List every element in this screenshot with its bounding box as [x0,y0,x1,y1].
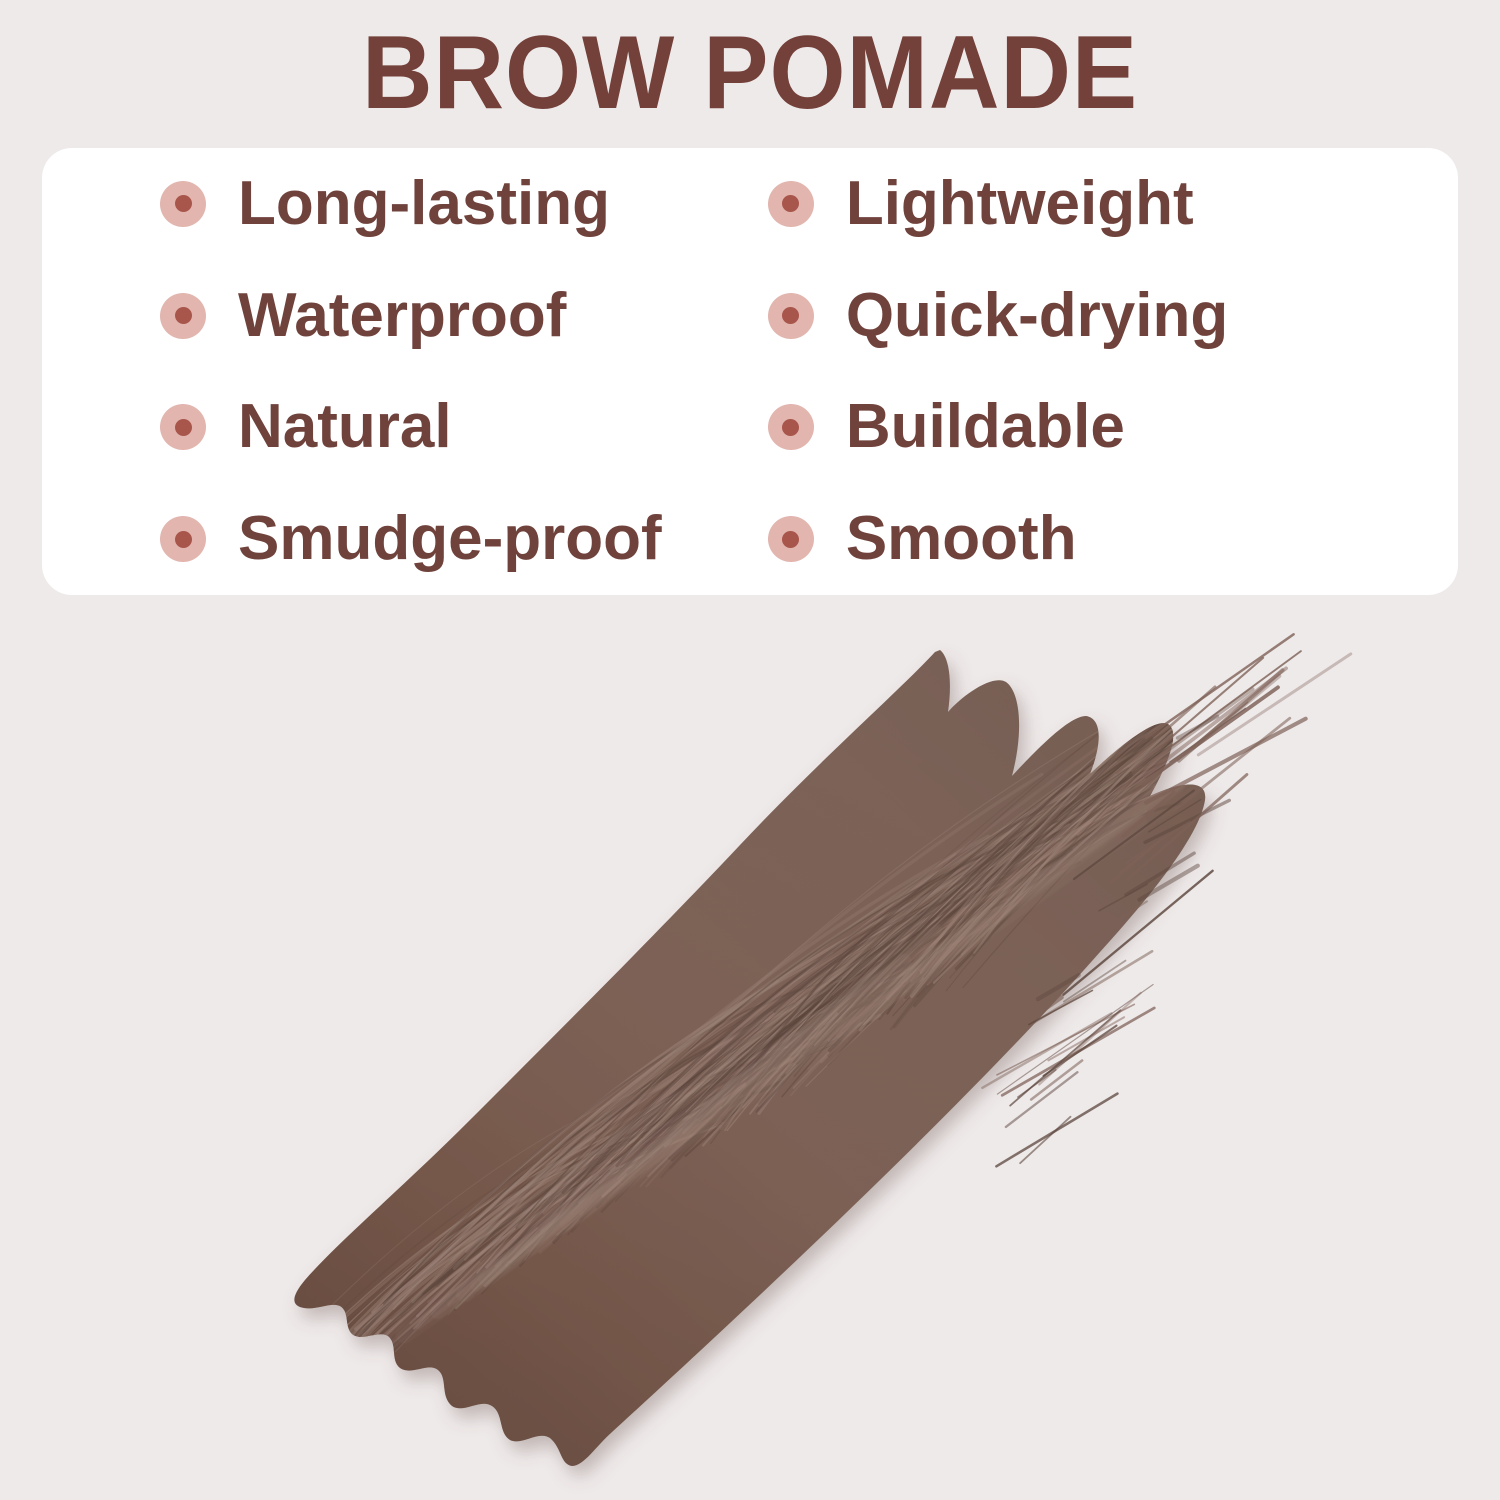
features-card: Long-lasting Lightweight Waterproof Quic… [42,148,1458,595]
brow-pomade-swatch [0,600,1500,1500]
bullet-dot-icon [768,516,814,562]
feature-label: Long-lasting [238,169,610,239]
feature-label: Waterproof [238,281,566,351]
bullet-dot-icon [768,404,814,450]
bullet-dot-icon [768,181,814,227]
features-grid: Long-lasting Lightweight Waterproof Quic… [42,148,1458,595]
feature-label: Natural [238,392,452,462]
page-title: BROW POMADE [45,18,1455,128]
feature-item-lightweight: Lightweight [736,169,1458,239]
feature-item-smooth: Smooth [736,504,1458,574]
bullet-dot-icon [160,516,206,562]
feature-label: Buildable [846,392,1125,462]
feature-item-long-lasting: Long-lasting [42,169,736,239]
feature-item-buildable: Buildable [736,392,1458,462]
feature-label: Smudge-proof [238,504,662,574]
feature-label: Quick-drying [846,281,1228,351]
feature-label: Lightweight [846,169,1194,239]
feature-item-natural: Natural [42,392,736,462]
bullet-dot-icon [160,404,206,450]
bullet-dot-icon [160,181,206,227]
feature-item-quick-drying: Quick-drying [736,281,1458,351]
bullet-dot-icon [768,293,814,339]
bullet-dot-icon [160,293,206,339]
feature-item-waterproof: Waterproof [42,281,736,351]
swatch-svg [0,600,1500,1500]
feature-label: Smooth [846,504,1077,574]
feature-item-smudge-proof: Smudge-proof [42,504,736,574]
